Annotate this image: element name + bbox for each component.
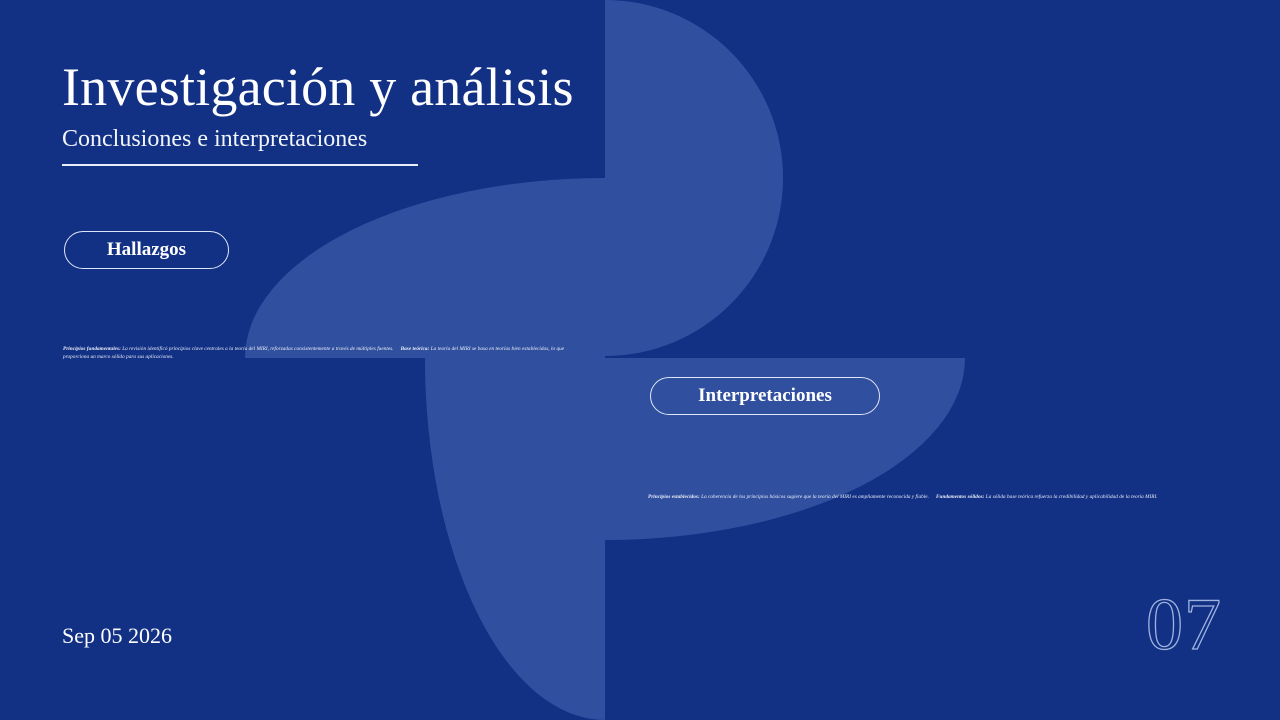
interpretations-text-1: La coherencia de los principios básicos … <box>700 494 929 500</box>
section-pill-interpretations-label: Interpretaciones <box>698 385 832 407</box>
half-disc-bottom-left-icon <box>425 358 605 720</box>
interpretations-lead-1: Principios establecidos: <box>648 494 700 500</box>
page-subtitle: Conclusiones e interpretaciones <box>62 126 574 153</box>
section-pill-interpretations[interactable]: Interpretaciones <box>650 377 880 415</box>
interpretations-text-2: La sólida base teórica refuerza la credi… <box>984 494 1157 500</box>
findings-lead-2: Base teórica: <box>401 346 430 352</box>
findings-lead-1: Principios fundamentales: <box>63 346 121 352</box>
slide-date: Sep 05 2026 <box>62 623 172 649</box>
findings-text-1: La revisión identificó principios clave … <box>121 346 394 352</box>
page-number: 07 <box>1146 588 1222 662</box>
interpretations-lead-2: Fundamentos sólidos: <box>936 494 984 500</box>
title-divider <box>62 164 418 166</box>
presentation-slide: Investigación y análisis Conclusiones e … <box>0 0 1280 720</box>
page-title: Investigación y análisis <box>62 58 574 116</box>
section-pill-findings-label: Hallazgos <box>107 239 186 261</box>
section-pill-findings[interactable]: Hallazgos <box>64 231 229 269</box>
slide-header: Investigación y análisis Conclusiones e … <box>62 58 574 166</box>
interpretations-body-text: Principios establecidos: La coherencia d… <box>648 494 1206 502</box>
findings-body-text: Principios fundamentales: La revisión id… <box>63 346 578 361</box>
half-disc-top-right-icon <box>605 0 783 356</box>
half-disc-middle-left-icon <box>245 178 605 358</box>
